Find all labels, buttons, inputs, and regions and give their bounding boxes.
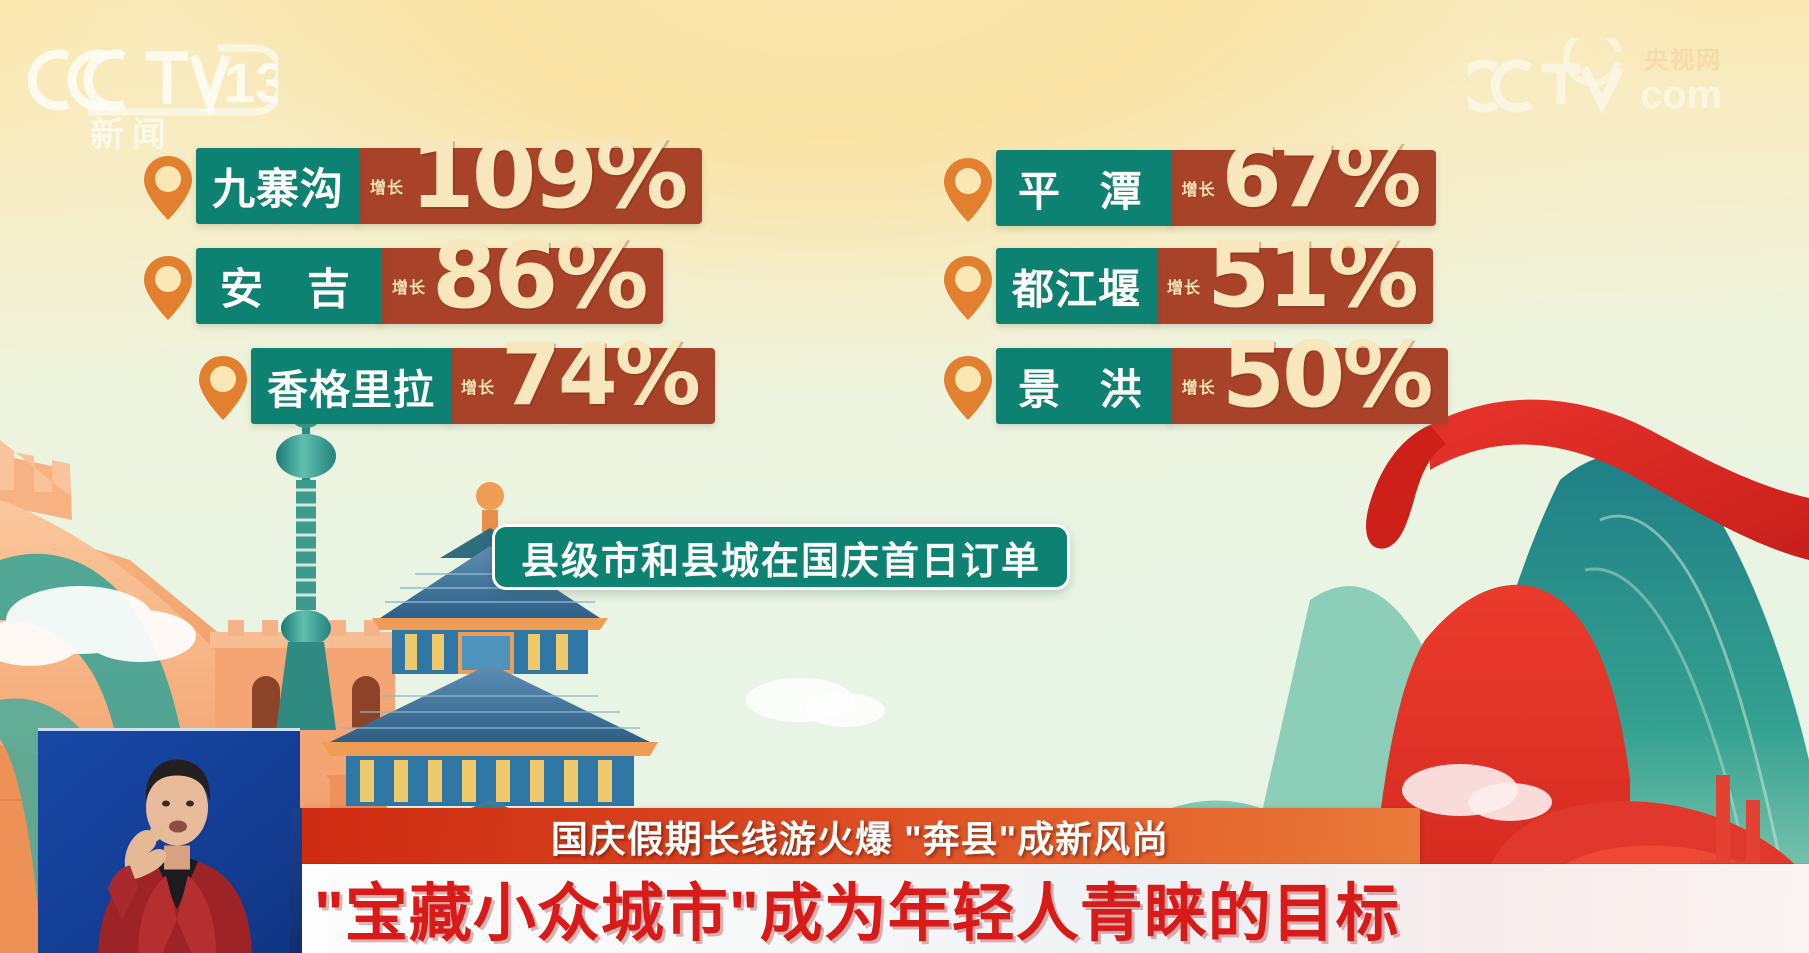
location-pin-icon [195, 348, 251, 424]
growth-value: 67% [1222, 127, 1420, 227]
value-box: 增长 50% [1168, 348, 1448, 424]
growth-label: 增长 [392, 274, 426, 298]
location-pin-icon [940, 248, 996, 324]
growth-label: 增长 [1182, 374, 1216, 398]
value-box: 增长 86% [378, 248, 663, 324]
value-box: 增长 109% [356, 148, 702, 224]
growth-value: 74% [501, 325, 699, 425]
headline-text: "宝藏小众城市"成为年轻人青睐的目标 [314, 863, 1400, 953]
city-label: 平 潭 [996, 150, 1172, 226]
watermark: com 央视网 [1468, 38, 1773, 116]
strap-text: 国庆假期长线游火爆 "奔县"成新风尚 [551, 809, 1169, 863]
location-pin-icon [940, 348, 996, 424]
stat-row[interactable]: 都江堰 增长 51% [940, 248, 1433, 324]
svg-text:com: com [1640, 73, 1722, 116]
city-label: 都江堰 [996, 248, 1157, 324]
lower-third-strap: 国庆假期长线游火爆 "奔县"成新风尚 [300, 808, 1420, 864]
growth-label: 增长 [461, 374, 495, 398]
growth-value: 86% [432, 221, 647, 329]
lower-third-accent [290, 808, 302, 953]
stat-row[interactable]: 景 洪 增长 50% [940, 348, 1448, 424]
value-box: 增长 74% [447, 348, 715, 424]
growth-value: 51% [1207, 223, 1417, 328]
channel-logo: 13 新闻 [28, 30, 278, 150]
lower-third-headline: "宝藏小众城市"成为年轻人青睐的目标 [300, 864, 1809, 953]
sign-language-inset [38, 728, 300, 953]
city-label: 景 洪 [996, 348, 1172, 424]
growth-label: 增长 [1182, 176, 1216, 200]
stat-row[interactable]: 九寨沟 增长 109% [140, 148, 702, 224]
location-pin-icon [940, 150, 996, 226]
location-pin-icon [140, 148, 196, 224]
svg-text:新闻: 新闻 [90, 116, 174, 150]
caption-pill: 县级市和县城在国庆首日订单 [492, 524, 1070, 590]
caption-text: 县级市和县城在国庆首日订单 [521, 530, 1041, 585]
growth-value: 50% [1222, 323, 1432, 428]
city-label: 香格里拉 [251, 348, 451, 424]
value-box: 增长 67% [1168, 150, 1436, 226]
city-label: 安 吉 [196, 248, 382, 324]
svg-text:13: 13 [224, 51, 278, 114]
growth-label: 增长 [1167, 274, 1201, 298]
stat-row[interactable]: 平 潭 增长 67% [940, 150, 1436, 226]
svg-text:央视网: 央视网 [1644, 47, 1722, 74]
stat-row[interactable]: 香格里拉 增长 74% [195, 348, 715, 424]
growth-value: 109% [410, 121, 686, 229]
location-pin-icon [140, 248, 196, 324]
stat-row[interactable]: 安 吉 增长 86% [140, 248, 663, 324]
value-box: 增长 51% [1153, 248, 1433, 324]
growth-label: 增长 [370, 174, 404, 198]
city-label: 九寨沟 [196, 148, 360, 224]
